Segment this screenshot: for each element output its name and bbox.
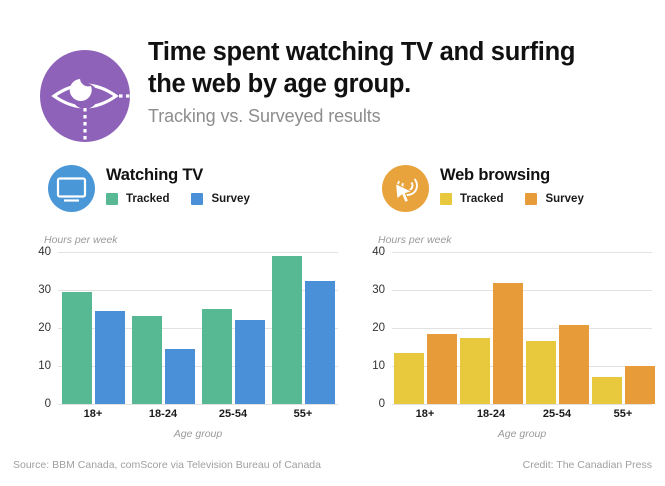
y-axis-tick: 10 [372,360,385,372]
y-axis-tick: 10 [38,360,51,372]
panel-watching-tv: Watching TV Tracked Survey Hours per wee… [14,160,344,450]
x-axis-tick: 55+ [268,408,338,420]
plot-area: 01020304018+18-2425-5455+ [392,252,652,404]
bar-tracked[interactable] [526,341,556,404]
bar-survey[interactable] [493,283,523,404]
eye-icon [40,50,136,146]
legend: Tracked Survey [106,193,272,205]
bar-group: 18+ [392,252,458,404]
page-title-line1: Time spent watching TV and surfing [148,38,575,66]
x-axis-tick: 25-54 [198,408,268,420]
legend-label-tracked: Tracked [460,193,503,205]
panel-title: Watching TV [106,166,203,185]
legend-item-survey[interactable]: Survey [191,193,249,205]
y-axis-title: Hours per week [44,234,118,246]
panel-web-browsing: Web browsing Tracked Survey Hours per we… [348,160,658,450]
bar-group: 18+ [58,252,128,404]
y-axis-tick: 30 [38,284,51,296]
bar-survey[interactable] [559,325,589,404]
panel-title: Web browsing [440,166,550,185]
bar-groups: 18+18-2425-5455+ [58,252,338,404]
bar-survey[interactable] [95,311,125,404]
source-note: Source: BBM Canada, comScore via Televis… [13,459,321,471]
x-axis-title: Age group [392,428,652,440]
header: Time spent watching TV and surfing the w… [0,22,665,147]
bar-groups: 18+18-2425-5455+ [392,252,652,404]
legend: Tracked Survey [440,193,606,205]
legend-item-survey[interactable]: Survey [525,193,583,205]
chart-watching-tv: 01020304018+18-2425-5455+ Age group [14,252,344,450]
legend-item-tracked[interactable]: Tracked [440,193,503,205]
y-axis-tick: 0 [45,398,51,410]
bar-group: 25-54 [198,252,268,404]
panel-header: Watching TV Tracked Survey [14,160,344,218]
title-block: Time spent watching TV and surfing the w… [148,36,648,127]
y-axis-tick: 20 [372,322,385,334]
bar-tracked[interactable] [272,256,302,404]
bar-survey[interactable] [305,281,335,405]
legend-swatch-survey [525,193,537,205]
cursor-click-icon [382,165,429,212]
x-axis-tick: 18-24 [458,408,524,420]
bar-tracked[interactable] [394,353,424,404]
bar-tracked[interactable] [202,309,232,404]
x-axis-tick: 18-24 [128,408,198,420]
page-title: Time spent watching TV and surfing the w… [148,36,648,100]
y-axis-tick: 20 [38,322,51,334]
y-axis-tick: 40 [372,246,385,258]
television-icon [48,165,95,212]
bar-group: 18-24 [128,252,198,404]
x-axis-tick: 18+ [58,408,128,420]
bar-survey[interactable] [625,366,655,404]
legend-item-tracked[interactable]: Tracked [106,193,169,205]
page-title-line2: the web by age group. [148,70,411,98]
chart-web-browsing: 01020304018+18-2425-5455+ Age group [348,252,658,450]
y-axis-tick: 0 [379,398,385,410]
panel-header: Web browsing Tracked Survey [348,160,658,218]
legend-swatch-tracked [106,193,118,205]
bar-group: 55+ [590,252,656,404]
y-axis-tick: 40 [38,246,51,258]
x-axis-tick: 25-54 [524,408,590,420]
bar-tracked[interactable] [460,338,490,405]
legend-label-survey: Survey [211,193,249,205]
page-subtitle: Tracking vs. Surveyed results [148,106,648,127]
bar-survey[interactable] [427,334,457,404]
legend-swatch-tracked [440,193,452,205]
footer: Source: BBM Canada, comScore via Televis… [0,459,665,475]
x-axis-tick: 18+ [392,408,458,420]
gridline: 0 [392,404,652,405]
gridline: 0 [58,404,338,405]
bar-survey[interactable] [165,349,195,404]
credit-note: Credit: The Canadian Press [523,459,652,471]
bar-tracked[interactable] [62,292,92,404]
bar-group: 25-54 [524,252,590,404]
bar-tracked[interactable] [132,316,162,404]
x-axis-tick: 55+ [590,408,656,420]
bar-survey[interactable] [235,320,265,404]
bar-group: 55+ [268,252,338,404]
x-axis-title: Age group [58,428,338,440]
y-axis-title: Hours per week [378,234,452,246]
legend-label-survey: Survey [545,193,583,205]
bar-tracked[interactable] [592,377,622,404]
bar-group: 18-24 [458,252,524,404]
y-axis-tick: 30 [372,284,385,296]
legend-label-tracked: Tracked [126,193,169,205]
legend-swatch-survey [191,193,203,205]
infographic-page: Time spent watching TV and surfing the w… [0,0,665,486]
plot-area: 01020304018+18-2425-5455+ [58,252,338,404]
